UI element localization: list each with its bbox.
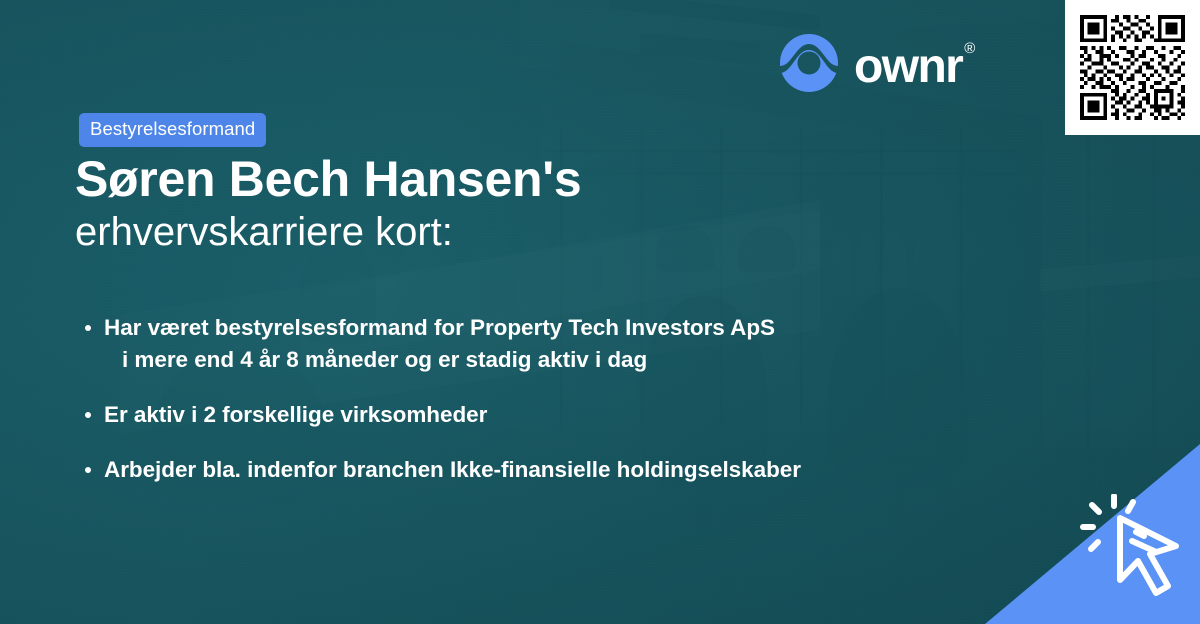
bullet-dot-icon xyxy=(85,412,91,418)
qr-code-icon xyxy=(1076,11,1189,124)
list-item-line-1: Har været bestyrelsesformand for Propert… xyxy=(104,315,775,340)
page-title: Søren Bech Hansen's erhvervskarriere kor… xyxy=(75,152,975,258)
bullet-dot-icon xyxy=(85,467,91,473)
ownr-wordmark-text: ownr xyxy=(854,40,962,93)
bullet-dot-icon xyxy=(85,325,91,331)
headline-line-2: erhvervskarriere kort: xyxy=(75,207,975,258)
list-item-line-2: i mere end 4 år 8 måneder og er stadig a… xyxy=(104,344,1062,376)
list-item: Arbejder bla. indenfor branchen Ikke-fin… xyxy=(82,454,1062,486)
ownr-wordmark: ownr® xyxy=(854,43,973,91)
ownr-logo[interactable]: ownr® xyxy=(778,32,973,99)
click-cursor-icon xyxy=(1080,494,1188,602)
role-badge: Bestyrelsesformand xyxy=(79,113,266,147)
career-facts-list: Har været bestyrelsesformand for Propert… xyxy=(82,312,1062,486)
headline-line-1: Søren Bech Hansen's xyxy=(75,152,975,207)
qr-code[interactable] xyxy=(1065,0,1200,135)
career-card: Bestyrelsesformand Søren Bech Hansen's e… xyxy=(0,0,1200,624)
registered-trademark-icon: ® xyxy=(964,40,975,57)
list-item: Er aktiv i 2 forskellige virksomheder xyxy=(82,399,1062,431)
ownr-circle-swoosh-icon xyxy=(778,32,840,99)
list-item-line-1: Arbejder bla. indenfor branchen Ikke-fin… xyxy=(104,457,801,482)
list-item: Har været bestyrelsesformand for Propert… xyxy=(82,312,1062,376)
list-item-line-1: Er aktiv i 2 forskellige virksomheder xyxy=(104,402,487,427)
